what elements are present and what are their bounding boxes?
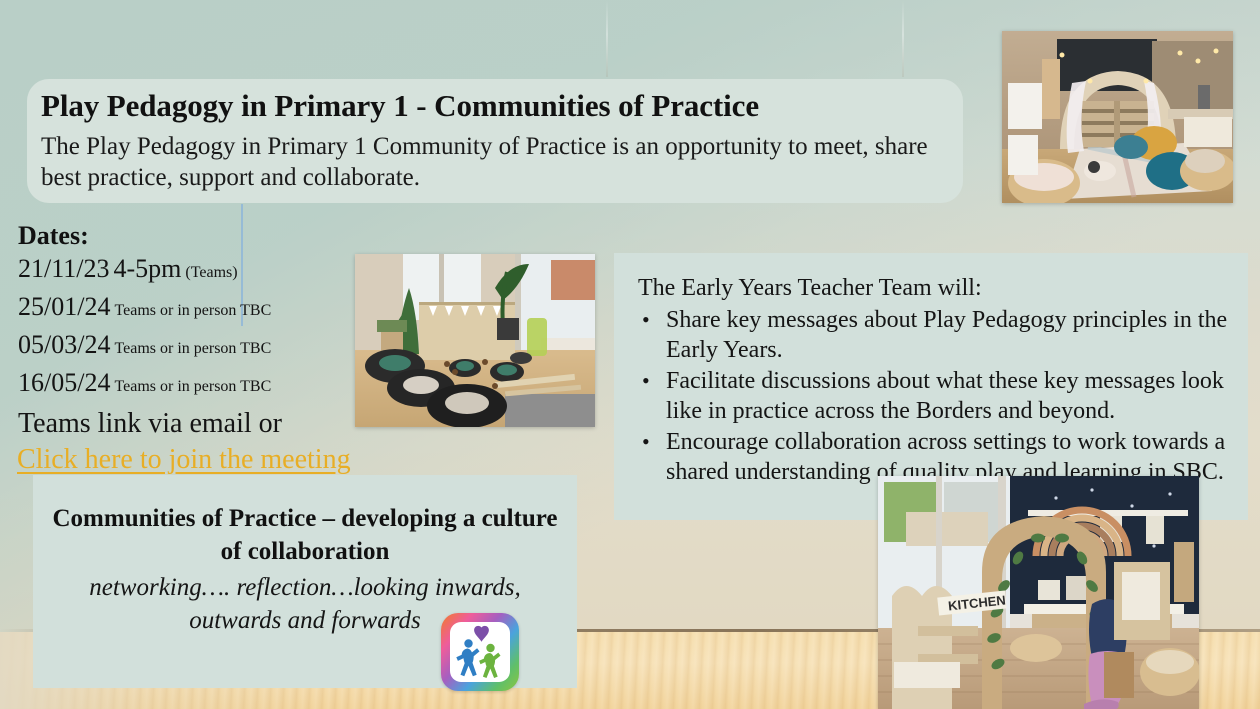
dates-block: Dates: 21/11/23 4-5pm (Teams) 25/01/24 T…	[18, 221, 348, 404]
list-item: • Facilitate discussions about what thes…	[636, 366, 1232, 426]
list-item-text: Facilitate discussions about what these …	[666, 368, 1224, 424]
indoor-tyre-play-area-photo	[355, 254, 595, 427]
dates-label: Dates:	[18, 221, 348, 251]
date-value: 21/11/23	[18, 254, 109, 283]
page-title: Play Pedagogy in Primary 1 - Communities…	[41, 88, 759, 124]
date-time: 4-5pm	[113, 254, 181, 283]
date-value: 16/05/24	[18, 368, 110, 397]
date-note: (Teams)	[185, 264, 237, 281]
panel-lead-text: The Early Years Teacher Team will:	[638, 275, 982, 302]
title-subtitle: The Play Pedagogy in Primary 1 Community…	[41, 131, 941, 193]
join-meeting-link[interactable]: Click here to join the meeting	[17, 444, 351, 476]
wall-seam-right	[902, 0, 904, 77]
date-note: Teams or in person TBC	[114, 340, 271, 357]
date-note: Teams or in person TBC	[114, 378, 271, 395]
wall-seam-left	[606, 0, 608, 77]
classroom-reading-den-photo	[1002, 31, 1233, 203]
teams-link-instruction: Teams link via email or	[18, 408, 282, 440]
logo-inner-plate	[450, 622, 510, 682]
kitchen-photo-art: KITCHEN	[878, 476, 1199, 709]
presentation-slide: Play Pedagogy in Primary 1 - Communities…	[0, 0, 1260, 709]
panel-bullet-list: • Share key messages about Play Pedagogy…	[636, 305, 1232, 488]
title-card: Play Pedagogy in Primary 1 - Communities…	[27, 79, 963, 203]
list-item-text: Share key messages about Play Pedagogy p…	[666, 307, 1227, 363]
list-item: • Share key messages about Play Pedagogy…	[636, 305, 1232, 365]
bullet-icon: •	[642, 305, 650, 335]
date-value: 25/01/24	[18, 292, 110, 321]
bullet-icon: •	[642, 366, 650, 396]
cop-title: Communities of Practice – developing a c…	[47, 502, 563, 568]
date-note: Teams or in person TBC	[114, 302, 271, 319]
date-row: 25/01/24 Teams or in person TBC	[18, 290, 348, 328]
den-photo-art	[1002, 31, 1233, 203]
logo-figures-icon	[450, 622, 510, 682]
date-value: 05/03/24	[18, 330, 110, 359]
play-kitchen-area-photo: KITCHEN	[878, 476, 1199, 709]
tyre-photo-art	[355, 254, 595, 427]
bullet-icon: •	[642, 427, 650, 457]
date-row: 16/05/24 Teams or in person TBC	[18, 366, 348, 404]
two-children-with-heart-logo	[441, 613, 519, 691]
date-row: 05/03/24 Teams or in person TBC	[18, 328, 348, 366]
date-row: 21/11/23 4-5pm (Teams)	[18, 252, 348, 290]
